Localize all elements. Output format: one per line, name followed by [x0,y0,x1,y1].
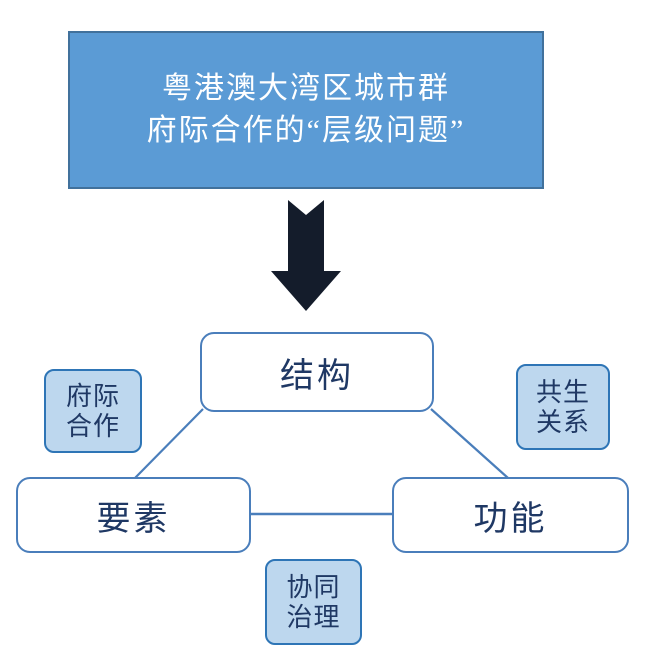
tag-gov-cooperation-line-1: 府际 [66,381,120,411]
tag-collaborative-governance[interactable]: 协同 治理 [265,559,362,645]
tag-gov-cooperation[interactable]: 府际 合作 [44,369,142,453]
title-line-1: 粤港澳大湾区城市群 [162,68,450,110]
node-structure[interactable]: 结构 [200,332,434,412]
diagram-canvas: 粤港澳大湾区城市群 府际合作的“层级问题” 结构 要素 功能 府际 合作 共生 … [0,0,645,661]
tag-symbiotic-relationship-line-1: 共生 [536,377,590,407]
tag-collaborative-governance-line-2: 治理 [286,602,340,632]
node-function[interactable]: 功能 [392,477,629,553]
tag-symbiotic-relationship-line-2: 关系 [536,407,590,437]
connector-structure-elements [135,409,203,478]
tag-collaborative-governance-line-1: 协同 [286,572,340,602]
title-line-2: 府际合作的“层级问题” [147,110,466,152]
title-banner: 粤港澳大湾区城市群 府际合作的“层级问题” [68,31,544,189]
node-function-label: 功能 [474,491,548,540]
node-structure-label: 结构 [280,348,354,397]
down-arrow-icon [268,197,344,315]
node-elements[interactable]: 要素 [16,477,251,553]
tag-gov-cooperation-line-2: 合作 [66,411,120,441]
node-elements-label: 要素 [97,491,171,540]
tag-symbiotic-relationship[interactable]: 共生 关系 [516,364,610,450]
connector-structure-function [431,409,508,478]
